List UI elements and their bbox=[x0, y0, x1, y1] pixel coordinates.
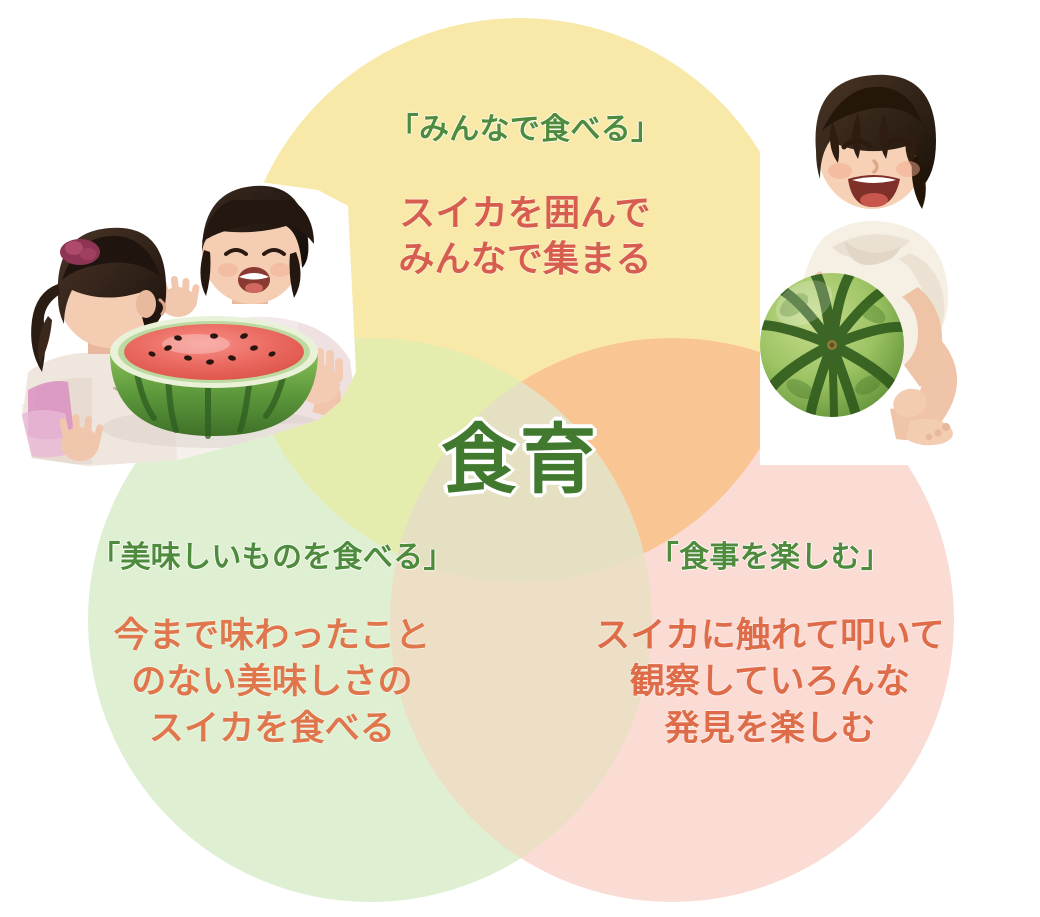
zone-right: 「食事を楽しむ」 スイカに触れて叩いて 観察していろんな 発見を楽しむ bbox=[520, 540, 1020, 752]
zone-right-body: スイカに触れて叩いて 観察していろんな 発見を楽しむ bbox=[520, 613, 1020, 753]
zone-top-heading: 「みんなで食べる」 bbox=[383, 112, 668, 151]
zone-top: 「みんなで食べる」 スイカを囲んで みんなで集まる bbox=[255, 112, 795, 284]
zone-left-heading: 「美味しいものを食べる」 bbox=[84, 540, 460, 579]
zone-left: 「美味しいものを食べる」 今まで味わったこと のない美味しさの スイカを食べる bbox=[22, 540, 522, 752]
center-label-shokuiku: 食育 bbox=[0, 398, 1040, 508]
zone-left-body: 今まで味わったこと のない美味しさの スイカを食べる bbox=[22, 613, 522, 753]
zone-right-heading: 「食事を楽しむ」 bbox=[643, 540, 897, 579]
zone-top-body: スイカを囲んで みんなで集まる bbox=[255, 191, 795, 285]
poster-canvas: 「みんなで食べる」 スイカを囲んで みんなで集まる 「美味しいものを食べる」 今… bbox=[0, 0, 1040, 917]
